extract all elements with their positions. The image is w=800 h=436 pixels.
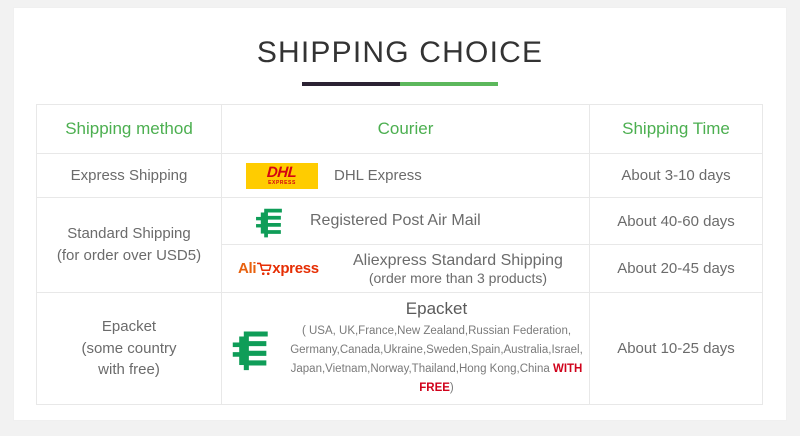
china-post-logo [230, 325, 276, 371]
column-header-shipping-method: Shipping method [37, 105, 222, 154]
cell-method-epacket: Epacket (some country with free) [37, 293, 222, 405]
cell-courier-aliexpress: Ali xpress Aliexpress Standard Shipping [222, 245, 590, 293]
method-epacket-line1: Epacket [41, 316, 217, 338]
title-block: SHIPPING CHOICE [14, 8, 786, 86]
shipping-info-card: SHIPPING CHOICE Shipping method Courier … [14, 8, 786, 420]
dhl-logo: DHL EXPRESS [246, 163, 318, 189]
method-epacket-line2: (some country [41, 338, 217, 360]
title-underline-green-segment [400, 82, 498, 86]
aliexpress-logo: Ali xpress [238, 261, 319, 276]
courier-note-aliexpress: (order more than 3 products) [331, 270, 585, 286]
method-standard-line1: Standard Shipping [41, 223, 217, 245]
title-underline [302, 82, 498, 86]
registered-post-courier-group: Registered Post Air Mail [226, 204, 585, 238]
shipping-options-table: Shipping method Courier Shipping Time Ex… [36, 104, 763, 405]
column-header-shipping-time: Shipping Time [590, 105, 763, 154]
aliexpress-label-group: Aliexpress Standard Shipping (order more… [331, 252, 585, 286]
method-epacket-line3: with free) [41, 359, 217, 381]
cell-time-epacket: About 10-25 days [590, 293, 763, 405]
epacket-country-line-3-close: ) [450, 382, 454, 394]
dhl-courier-group: DHL EXPRESS DHL Express [226, 163, 585, 189]
table-row-registered-post: Standard Shipping (for order over USD5) [37, 198, 763, 245]
aliexpress-logo-ali-text: Ali [238, 261, 256, 276]
cell-courier-dhl: DHL EXPRESS DHL Express [222, 154, 590, 198]
table-row-express-shipping: Express Shipping DHL EXPRESS DHL Express… [37, 154, 763, 198]
courier-name-aliexpress: Aliexpress Standard Shipping [331, 252, 585, 270]
shopping-cart-icon [257, 262, 272, 276]
courier-name-registered-post: Registered Post Air Mail [310, 212, 481, 230]
courier-name-epacket: Epacket [288, 299, 585, 319]
aliexpress-courier-group: Ali xpress Aliexpress Standard Shipping [226, 252, 585, 286]
cell-courier-registered-post: Registered Post Air Mail [222, 198, 590, 245]
table-header-row: Shipping method Courier Shipping Time [37, 105, 763, 154]
cell-time-aliexpress: About 20-45 days [590, 245, 763, 293]
dhl-express-subtext: EXPRESS [268, 181, 296, 186]
page-title: SHIPPING CHOICE [14, 38, 786, 68]
dhl-courier-label-group: DHL Express [334, 167, 422, 184]
column-header-courier: Courier [222, 105, 590, 154]
epacket-country-list: ( USA, UK,France,New Zealand,Russian Fed… [288, 322, 585, 398]
table-row-epacket: Epacket (some country with free) [37, 293, 763, 405]
title-underline-dark-segment [302, 82, 400, 86]
cell-time-express: About 3-10 days [590, 154, 763, 198]
epacket-country-line-3-text: Japan,Vietnam,Norway,Thailand,Hong Kong,… [291, 363, 553, 375]
cell-method-express: Express Shipping [37, 154, 222, 198]
epacket-country-line-3: Japan,Vietnam,Norway,Thailand,Hong Kong,… [288, 360, 585, 398]
cell-courier-epacket: Epacket ( USA, UK,France,New Zealand,Rus… [222, 293, 590, 405]
cell-method-standard: Standard Shipping (for order over USD5) [37, 198, 222, 293]
epacket-country-line-1: ( USA, UK,France,New Zealand,Russian Fed… [288, 322, 585, 341]
china-post-logo [254, 204, 288, 238]
epacket-courier-group: Epacket ( USA, UK,France,New Zealand,Rus… [226, 299, 585, 398]
epacket-country-line-2: Germany,Canada,Ukraine,Sweden,Spain,Aust… [288, 341, 585, 360]
aliexpress-logo-xpress-text: xpress [272, 261, 319, 276]
epacket-text-group: Epacket ( USA, UK,France,New Zealand,Rus… [288, 299, 585, 398]
dhl-wordmark: DHL [267, 165, 297, 180]
cell-time-registered-post: About 40-60 days [590, 198, 763, 245]
method-standard-line2: (for order over USD5) [41, 245, 217, 267]
courier-name-dhl: DHL Express [334, 167, 422, 184]
registered-post-label-group: Registered Post Air Mail [310, 212, 481, 230]
